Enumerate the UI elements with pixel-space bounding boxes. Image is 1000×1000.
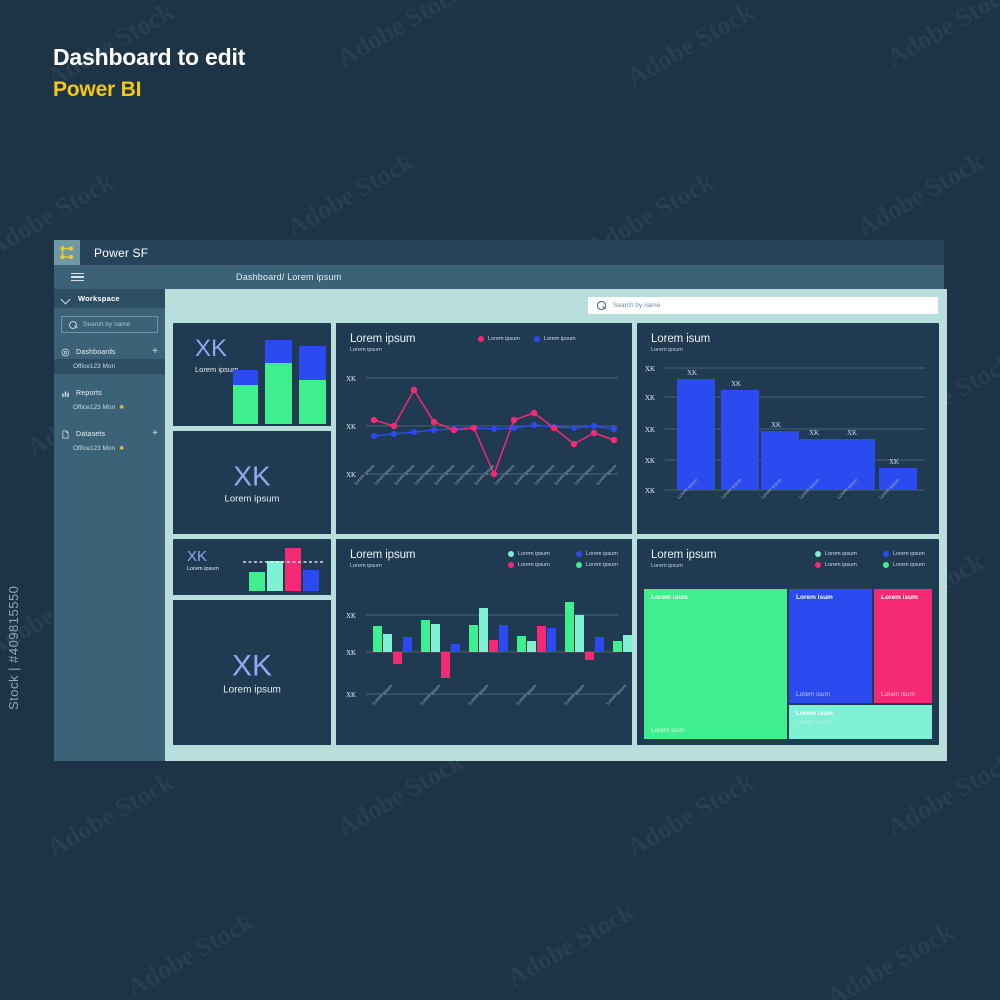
svg-text:XK: XK <box>645 426 655 434</box>
treemap-node-pink[interactable]: Lorem isum Lorem isum <box>874 589 932 703</box>
svg-text:XK: XK <box>731 380 741 388</box>
bar-chart-plot: XK XK XK XK XK XK XK XK <box>637 323 939 534</box>
kpi-label: Lorem ipsum <box>173 493 331 504</box>
svg-text:Lorem ipsum: Lorem ipsum <box>371 683 393 705</box>
dashboard-canvas: Search by name XK Lorem ipsum <box>165 289 947 761</box>
svg-text:Lorem ipsum: Lorem ipsum <box>419 683 441 705</box>
svg-text:XK: XK <box>809 429 819 437</box>
sidebar-subitem-label: Office123 Mon <box>73 445 115 452</box>
svg-text:XK: XK <box>346 691 356 699</box>
legend-label: Lorem ipsum <box>893 562 925 568</box>
breadcrumb-bar: Dashboard/ Lorem ipsum <box>54 265 944 289</box>
legend-item[interactable]: Lorem ipsum <box>883 551 937 557</box>
sidebar-subitem-dashboard[interactable]: Office123 Mon <box>54 359 165 374</box>
poster-title: Dashboard to edit <box>53 44 245 71</box>
tile-kpi-target[interactable]: XK Lorem ipsum <box>173 539 331 595</box>
sidebar-group-dashboards: Dashboards + Office123 Mon <box>54 345 165 374</box>
datasets-label: Datasets <box>76 431 146 438</box>
legend-label: Lorem ipsum <box>893 551 925 557</box>
sidebar: Workspace Search by name Dashboards + <box>54 289 165 761</box>
tile-line-chart[interactable]: Lorem ipsum Lorem ipsum Lorem ipsum Lore… <box>336 323 632 534</box>
sidebar-subitem-label: Office123 Mon <box>73 404 115 411</box>
search-icon <box>597 301 606 310</box>
kpi-stacked-bar-chart <box>173 323 331 426</box>
plus-icon[interactable]: + <box>152 347 158 357</box>
combo-chart-x-labels: Lorem ipsum Lorem ipsum Lorem ipsum Lore… <box>371 683 627 705</box>
kpi-value: XK <box>173 650 331 682</box>
legend-dot-blue <box>883 551 889 557</box>
canvas-search-placeholder: Search by name <box>613 302 660 309</box>
tile-kpi-bar[interactable]: XK Lorem ipsum <box>173 323 331 426</box>
treemap-node-label: Lorem isum <box>796 594 833 601</box>
search-icon <box>69 321 77 329</box>
hamburger-icon[interactable] <box>60 273 94 282</box>
sidebar-search-input[interactable]: Search by name <box>61 316 158 333</box>
plus-icon[interactable]: + <box>152 429 158 439</box>
svg-text:Lorem ipsum: Lorem ipsum <box>563 683 585 705</box>
tile-bar-chart[interactable]: Lorem isum Lorem ipsum XK XK XK XK XK <box>637 323 939 534</box>
treemap-node-value: Lorem isum <box>881 691 915 698</box>
svg-text:XK: XK <box>771 421 781 429</box>
svg-text:Lorem ipsum: Lorem ipsum <box>605 683 627 705</box>
line-chart-plot: XK XK XK <box>336 323 632 534</box>
app-window: Power SF Dashboard/ Lorem ipsum Workspac… <box>54 240 944 761</box>
svg-text:XK: XK <box>687 369 697 377</box>
star-icon[interactable]: ✱ <box>119 445 124 452</box>
sidebar-subitem-dataset[interactable]: Office123 Mon ✱ <box>54 441 165 456</box>
tile-kpi-big-1[interactable]: XK Lorem ipsum <box>173 431 331 534</box>
svg-text:XK: XK <box>346 471 356 479</box>
svg-text:XK: XK <box>346 649 356 657</box>
treemap-node-value: Lorem isum <box>796 719 830 726</box>
svg-text:XK: XK <box>645 394 655 402</box>
treemap-node-label: Lorem isum <box>796 710 833 717</box>
dataset-file-icon <box>61 430 70 439</box>
legend-item[interactable]: Lorem ipsum <box>815 562 869 568</box>
svg-text:XK: XK <box>346 423 356 431</box>
workspace-label: Workspace <box>78 294 120 303</box>
legend-label: Lorem ipsum <box>825 562 857 568</box>
svg-text:XK: XK <box>645 457 655 465</box>
breadcrumb: Dashboard/ Lorem ipsum <box>236 272 341 282</box>
sidebar-workspace-row[interactable]: Workspace <box>54 289 165 308</box>
app-title: Power SF <box>94 246 148 260</box>
treemap-node-value: Lorem isum <box>796 691 830 698</box>
svg-text:Lorem ipsum: Lorem ipsum <box>467 683 489 705</box>
tile-kpi-big-2[interactable]: XK Lorem ipsum <box>173 600 331 745</box>
sidebar-item-datasets[interactable]: Datasets + <box>54 427 165 441</box>
reports-label: Reports <box>76 390 158 397</box>
svg-text:XK: XK <box>847 429 857 437</box>
treemap-subtitle: Lorem ipsum <box>651 563 716 569</box>
poster-subtitle: Power BI <box>53 78 141 102</box>
tile-combo-chart[interactable]: Lorem ipsum Lorem ipsum Lorem ipsum Lore… <box>336 539 632 745</box>
legend-label: Lorem ipsum <box>825 551 857 557</box>
treemap-node-label: Lorem isum <box>651 594 688 601</box>
svg-text:XK: XK <box>645 487 655 495</box>
treemap-node-value: Lorem isum <box>651 727 685 734</box>
report-bars-icon <box>61 389 70 398</box>
svg-text:XK: XK <box>346 612 356 620</box>
app-logo[interactable] <box>54 240 80 265</box>
svg-text:Lorem ipsum: Lorem ipsum <box>573 463 595 485</box>
treemap-plot: Lorem isum Lorem isum Lorem isum Lorem i… <box>644 589 932 739</box>
svg-text:Lorem ipsum: Lorem ipsum <box>515 683 537 705</box>
combo-chart-plot: XK XK XK <box>336 539 632 745</box>
star-icon[interactable]: ✱ <box>119 404 124 411</box>
sidebar-subitem-label: Office123 Mon <box>73 363 115 370</box>
sidebar-search-placeholder: Search by name <box>83 321 130 328</box>
sidebar-group-reports: Reports Office123 Mon ✱ <box>54 386 165 415</box>
treemap-legend: Lorem ipsum Lorem ipsum Lorem ipsum <box>815 551 937 568</box>
treemap-node-green[interactable]: Lorem isum Lorem isum <box>644 589 787 739</box>
svg-text:XK: XK <box>889 458 899 466</box>
legend-dot-pink <box>815 562 821 568</box>
kpi-target-bar-chart <box>173 539 331 595</box>
canvas-search-input[interactable]: Search by name <box>588 297 938 314</box>
kpi-value: XK <box>173 461 331 491</box>
tile-treemap[interactable]: Lorem ipsum Lorem ipsum Lorem ipsum Lore… <box>637 539 939 745</box>
treemap-title: Lorem ipsum <box>651 549 716 561</box>
tile-grid: XK Lorem ipsum <box>173 323 939 753</box>
line-chart-x-labels: Lorem ipsum Lorem ipsum Lorem ipsum Lore… <box>353 463 617 485</box>
treemap-node-blue[interactable]: Lorem isum Lorem isum <box>789 589 872 703</box>
power-bi-nodes-icon <box>59 245 75 261</box>
sidebar-group-datasets: Datasets + Office123 Mon ✱ <box>54 427 165 456</box>
sidebar-item-reports[interactable]: Reports <box>54 386 165 400</box>
sidebar-subitem-report[interactable]: Office123 Mon ✱ <box>54 400 165 415</box>
treemap-node-mint[interactable]: Lorem isum Lorem isum <box>789 705 932 739</box>
legend-dot-mint <box>815 551 821 557</box>
legend-item[interactable]: Lorem ipsum <box>883 562 937 568</box>
title-bar: Power SF <box>54 240 944 265</box>
stock-id-label: Stock | #409815550 <box>6 586 21 710</box>
treemap-node-label: Lorem isum <box>881 594 918 601</box>
dashboard-icon <box>61 348 70 357</box>
svg-text:Lorem ipsum: Lorem ipsum <box>595 463 617 485</box>
legend-dot-green <box>883 562 889 568</box>
chevron-down-icon <box>61 294 70 303</box>
sidebar-item-dashboards[interactable]: Dashboards + <box>54 345 165 359</box>
svg-text:XK: XK <box>346 375 356 383</box>
svg-text:XK: XK <box>645 365 655 373</box>
dashboards-label: Dashboards <box>76 349 146 356</box>
legend-item[interactable]: Lorem ipsum <box>815 551 869 557</box>
kpi-label: Lorem ipsum <box>173 684 331 695</box>
